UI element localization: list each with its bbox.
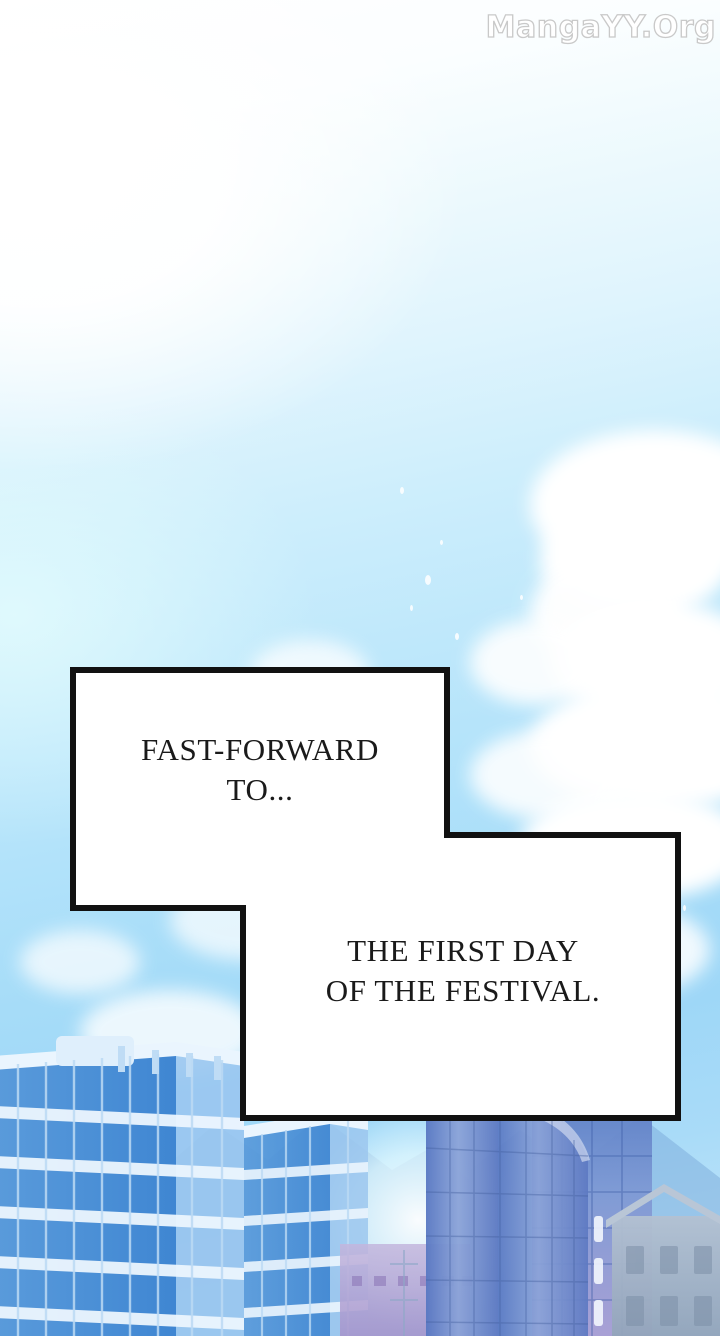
elevator-strip: [594, 1216, 603, 1326]
narration-bubble[interactable]: FAST-FORWARD TO... THE FIRST DAY OF THE …: [70, 666, 682, 1122]
building-curved-tower-left: [426, 1098, 498, 1336]
sparkle-dot: [400, 487, 404, 494]
sparkle-dot: [440, 540, 443, 545]
sparkle-dot: [455, 633, 459, 640]
sparkle-dot: [683, 905, 686, 911]
bubble-upper-text: FAST-FORWARD TO...: [76, 730, 444, 809]
sparkle-dot: [698, 760, 702, 767]
sparkle-dot: [425, 575, 431, 585]
sparkle-dot: [410, 605, 413, 611]
comic-page: FAST-FORWARD TO... THE FIRST DAY OF THE …: [0, 0, 720, 1336]
sparkle-dot: [520, 595, 523, 600]
site-watermark: MangaYY.Org: [476, 6, 716, 50]
bubble-lower-text: THE FIRST DAY OF THE FESTIVAL.: [266, 931, 660, 1010]
